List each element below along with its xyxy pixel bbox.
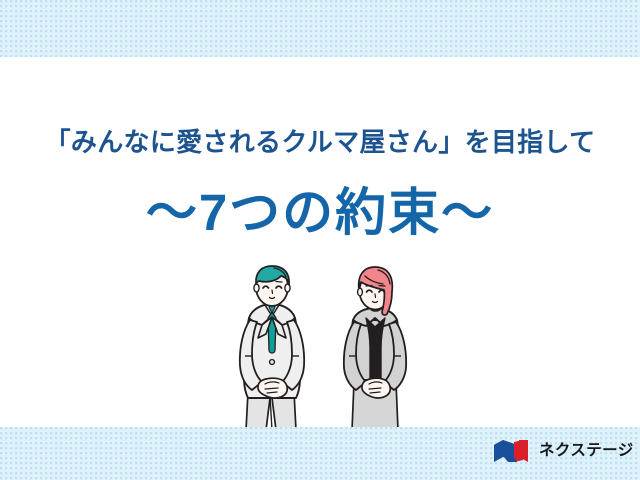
- page-title: 「みんなに愛されるクルマ屋さん」を目指して: [0, 128, 640, 158]
- brand-name: ネクステージ: [539, 443, 634, 459]
- banner-subtitle: 〜7つの約束〜: [0, 185, 640, 241]
- banner-stage: [0, 57, 640, 427]
- brand-logo: ネクステージ: [492, 437, 634, 465]
- promise-banner: 「みんなに愛されるクルマ屋さん」を目指して 〜7つの約束〜: [0, 0, 640, 480]
- top-dot-band: [0, 0, 640, 57]
- nextage-n-mark: [492, 438, 532, 464]
